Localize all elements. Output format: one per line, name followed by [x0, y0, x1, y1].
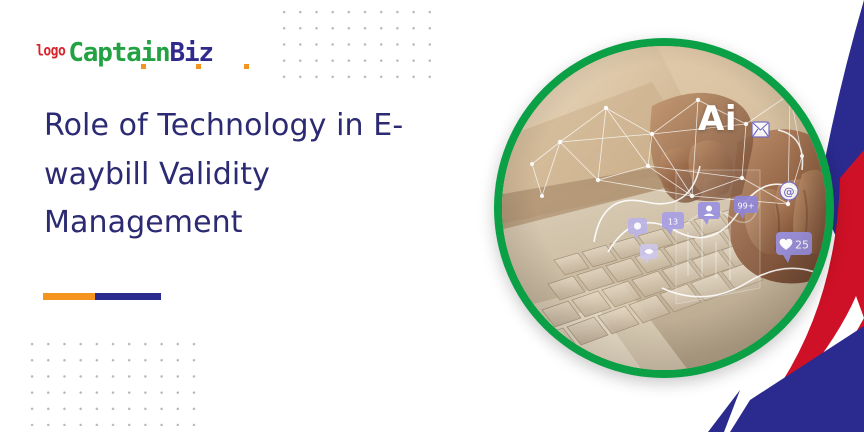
- captainbiz-logo[interactable]: logo CaptainBiz: [36, 32, 213, 66]
- accent-divider: [43, 293, 161, 300]
- divider-segment-navy: [95, 293, 161, 300]
- logo-accent-dot-i-icon: [196, 64, 201, 69]
- hero-image: @ 13: [502, 46, 826, 370]
- logo-accent-dot-a-icon: [141, 64, 146, 69]
- logo-accent-dot-i2-icon: [244, 64, 249, 69]
- ai-overlay-label: Ai: [698, 102, 737, 136]
- logo-word-blue: Biz: [170, 38, 213, 68]
- divider-segment-orange: [43, 293, 95, 300]
- dot-grid-bottom-decoration: [24, 336, 204, 426]
- logo-wordmark: CaptainBiz: [68, 40, 213, 66]
- page-title: Role of Technology in E-waybill Validity…: [44, 102, 444, 248]
- hero-image-ring: @ 13: [494, 38, 834, 378]
- logo-badge-text: logo: [36, 44, 65, 59]
- blog-banner: logo CaptainBiz Role of Technology in E-…: [0, 0, 864, 432]
- dot-grid-top-decoration: [276, 4, 440, 88]
- logo-word-green: Capta: [68, 38, 140, 68]
